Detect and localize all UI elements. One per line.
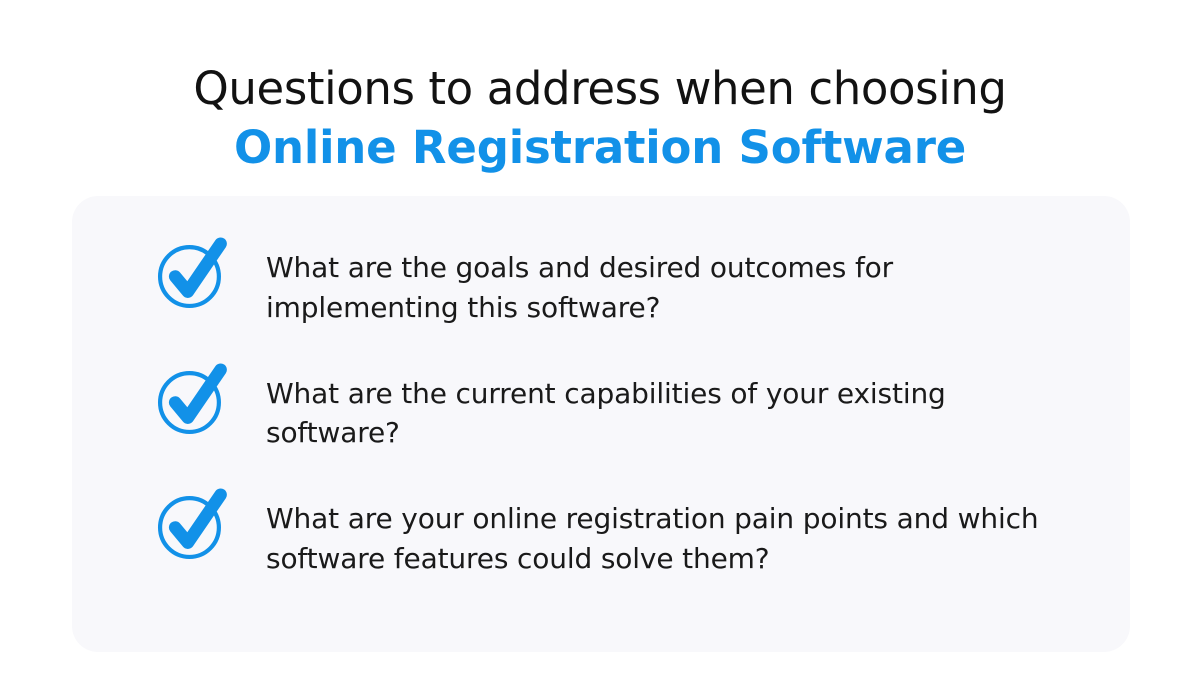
list-item-label: What are the goals and desired outcomes … bbox=[266, 240, 1056, 328]
check-circle-icon bbox=[150, 483, 234, 567]
list-item-label: What are the current capabilities of you… bbox=[266, 366, 1056, 454]
questions-card: What are the goals and desired outcomes … bbox=[72, 196, 1130, 652]
list-item: What are the current capabilities of you… bbox=[150, 366, 1090, 454]
list-item: What are the goals and desired outcomes … bbox=[150, 240, 1090, 328]
check-circle-icon bbox=[150, 232, 234, 316]
page-title-line-1: Questions to address when choosing bbox=[0, 62, 1200, 115]
questions-list: What are the goals and desired outcomes … bbox=[150, 240, 1090, 579]
infographic-page: Questions to address when choosing Onlin… bbox=[0, 0, 1200, 700]
page-title: Questions to address when choosing Onlin… bbox=[0, 0, 1200, 176]
list-item: What are your online registration pain p… bbox=[150, 491, 1090, 579]
list-item-label: What are your online registration pain p… bbox=[266, 491, 1056, 579]
check-circle-icon bbox=[150, 358, 234, 442]
page-title-line-2-highlight: Online Registration Software bbox=[0, 121, 1200, 176]
